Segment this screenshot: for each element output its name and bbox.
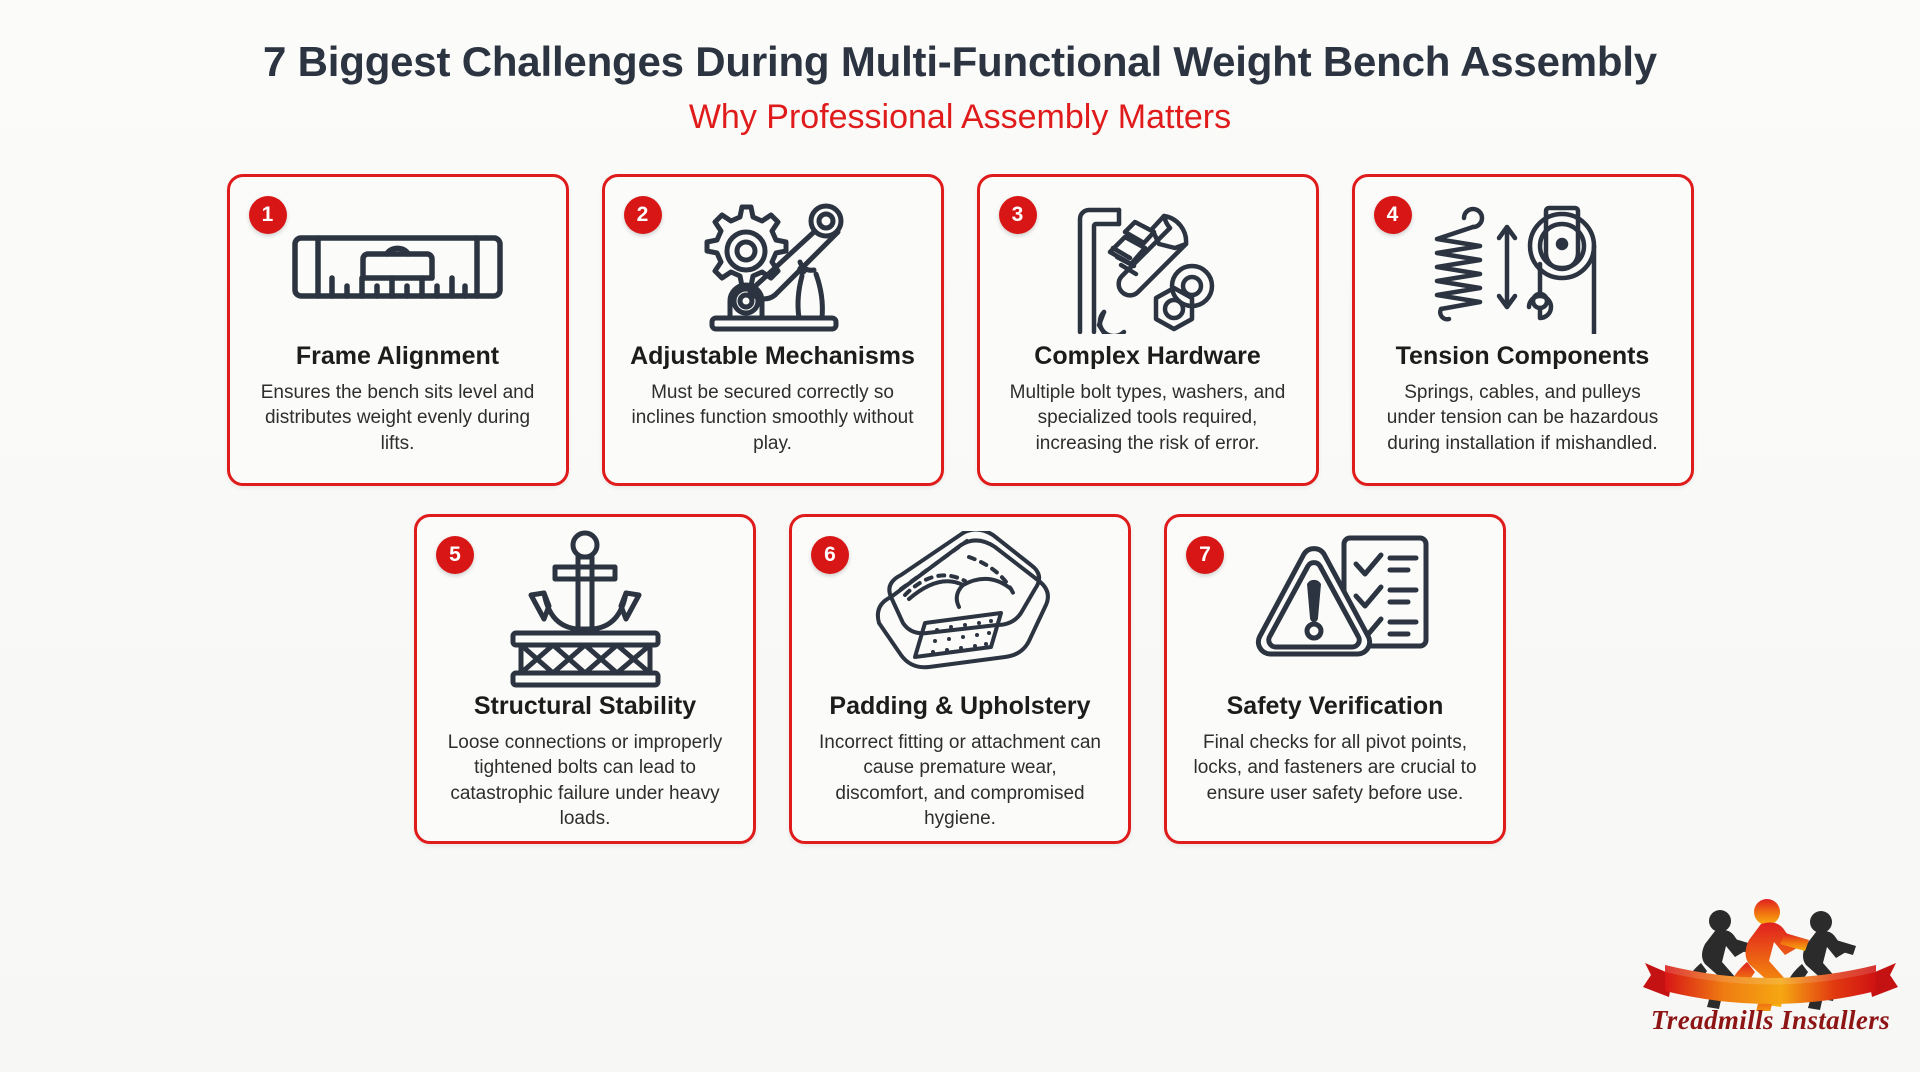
card-description: Loose connections or improperly tightene… [417, 721, 753, 831]
card-description: Ensures the bench sits level and distrib… [230, 371, 566, 456]
card-row-top: 1 [0, 174, 1920, 486]
card-number-badge: 4 [1374, 196, 1412, 234]
card-title: Tension Components [1355, 342, 1691, 371]
card-row-bottom: 5 [0, 514, 1920, 844]
card-title: Adjustable Mechanisms [605, 342, 941, 371]
challenge-card-5[interactable]: 5 [414, 514, 756, 844]
challenge-card-3[interactable]: 3 [977, 174, 1319, 486]
logo-text: Treadmills Installers [1643, 1005, 1898, 1036]
card-title: Frame Alignment [230, 342, 566, 371]
card-title: Safety Verification [1167, 692, 1503, 721]
card-title: Structural Stability [417, 692, 753, 721]
page-title: 7 Biggest Challenges During Multi-Functi… [0, 38, 1920, 86]
challenge-card-6[interactable]: 6 [789, 514, 1131, 844]
header: 7 Biggest Challenges During Multi-Functi… [0, 0, 1920, 137]
challenge-card-4[interactable]: 4 [1352, 174, 1694, 486]
card-description: Springs, cables, and pulleys under tensi… [1355, 371, 1691, 456]
card-description: Final checks for all pivot points, locks… [1167, 721, 1503, 806]
runners-ribbon-icon [1643, 889, 1898, 1011]
card-description: Multiple bolt types, washers, and specia… [980, 371, 1316, 456]
card-title: Padding & Upholstery [792, 692, 1128, 721]
card-number-badge: 1 [249, 196, 287, 234]
card-title: Complex Hardware [980, 342, 1316, 371]
challenge-card-2[interactable]: 2 [602, 174, 944, 486]
challenge-card-1[interactable]: 1 [227, 174, 569, 486]
page-subtitle: Why Professional Assembly Matters [0, 98, 1920, 137]
card-number-badge: 3 [999, 196, 1037, 234]
challenge-card-7[interactable]: 7 [1164, 514, 1506, 844]
infographic-page: 7 Biggest Challenges During Multi-Functi… [0, 0, 1920, 1072]
card-description: Incorrect fitting or attachment can caus… [792, 721, 1128, 831]
card-number-badge: 2 [624, 196, 662, 234]
card-description: Must be secured correctly so inclines fu… [605, 371, 941, 456]
treadmills-installers-logo: Treadmills Installers [1643, 889, 1898, 1064]
